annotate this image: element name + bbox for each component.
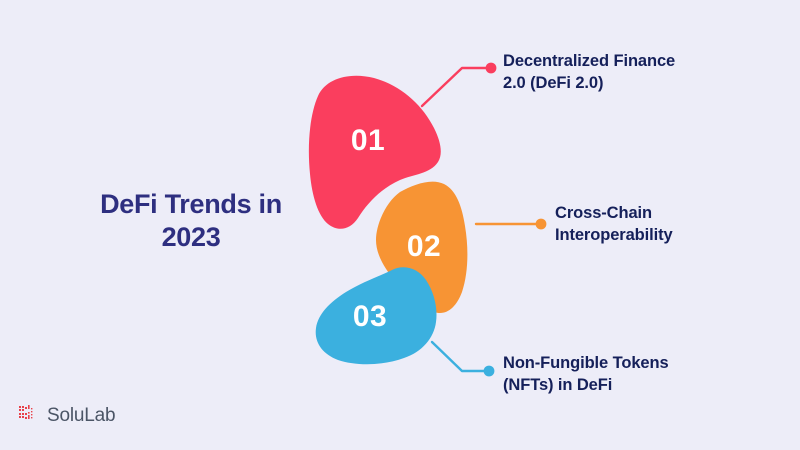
page-title-line-1: DeFi Trends in <box>60 188 322 221</box>
callout-label-02-line-1: Cross-Chain <box>555 202 673 224</box>
qr-pixel-logo-icon <box>18 404 40 426</box>
callout-label-03: Non-Fungible Tokens (NFTs) in DeFi <box>503 352 669 396</box>
arc-segment-02-number: 02 <box>407 230 441 263</box>
callout-label-02: Cross-Chain Interoperability <box>555 202 673 246</box>
brand-name: SoluLab <box>47 406 115 425</box>
callout-label-01-line-1: Decentralized Finance <box>503 50 675 72</box>
infographic-canvas: DeFi Trends in 2023 01 02 03 <box>0 0 800 450</box>
arc-segment-03[interactable]: 03 <box>316 267 437 364</box>
brand-logo: SoluLab <box>18 404 115 426</box>
segmented-arc-diagram: 01 02 03 <box>296 58 506 380</box>
connector-dot-02 <box>536 219 547 230</box>
arc-segment-03-number: 03 <box>353 300 387 333</box>
callout-label-03-line-2: (NFTs) in DeFi <box>503 374 669 396</box>
callout-label-01: Decentralized Finance 2.0 (DeFi 2.0) <box>503 50 675 94</box>
page-title: DeFi Trends in 2023 <box>60 188 322 254</box>
callout-label-03-line-1: Non-Fungible Tokens <box>503 352 669 374</box>
callout-label-02-line-2: Interoperability <box>555 224 673 246</box>
arc-segment-01-number: 01 <box>351 124 385 157</box>
callout-label-01-line-2: 2.0 (DeFi 2.0) <box>503 72 675 94</box>
page-title-line-2: 2023 <box>60 221 322 254</box>
